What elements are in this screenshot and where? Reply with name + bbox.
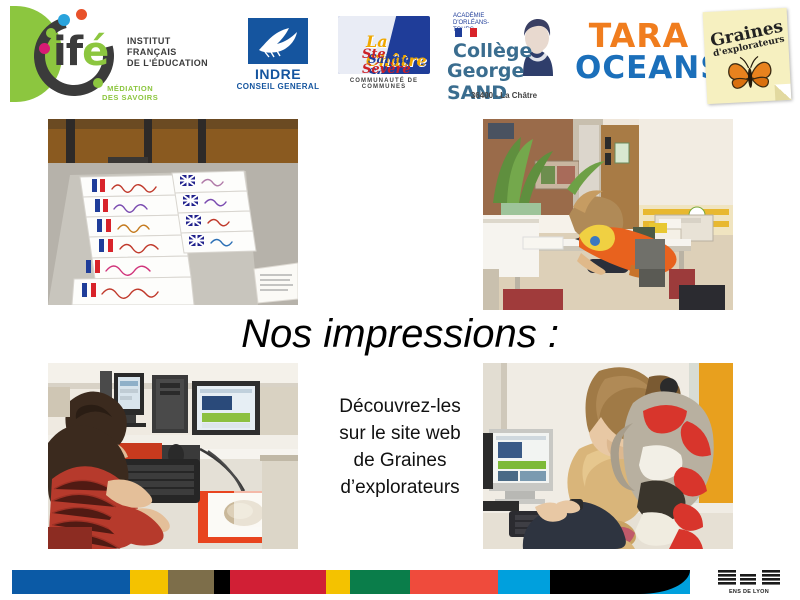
tara-line-1: TARA: [575, 20, 703, 52]
body-text-line-1: Découvrez-les: [305, 393, 495, 420]
footer-segment-3: [214, 570, 230, 594]
la-chatre-subtitle: COMMUNAUTÉ DE COMMUNES: [330, 78, 438, 90]
ife-wordmark-accent: é: [82, 29, 108, 75]
footer-segment-8: [498, 570, 550, 594]
ife-tagline-line-1: MÉDIATION: [102, 84, 158, 93]
photo-students-computers: [48, 363, 298, 549]
body-text-line-4: d’explorateurs: [305, 474, 495, 501]
french-flag-icon: [455, 28, 477, 37]
academie-crest: ACADÉMIE D'ORLÉANS-TOURS: [453, 13, 493, 27]
logo-ife: ifé INSTITUT FRANÇAIS DE L'ÉDUCATION MÉD…: [10, 6, 210, 110]
footer-tail-curve: [640, 570, 690, 594]
dove-icon: [255, 24, 301, 58]
ife-tagline-line-2: DES SAVOIRS: [102, 93, 158, 102]
ife-dot-blue-icon: [58, 14, 70, 26]
ife-subtitle-line-3: DE L'ÉDUCATION: [127, 58, 208, 69]
body-text-line-3: de Graines: [305, 447, 495, 474]
indre-subtitle: CONSEIL GENERAL: [232, 82, 324, 91]
ens-wordmark-icon: [718, 568, 780, 588]
indre-emblem: [248, 18, 308, 64]
logo-ens-de-lyon: ENS DE LYON: [718, 568, 788, 598]
ife-subtitle: INSTITUT FRANÇAIS DE L'ÉDUCATION: [127, 36, 208, 69]
footer-segment-2: [168, 570, 214, 594]
indre-name: INDRE: [232, 66, 324, 82]
photo-vocabulary-cards: [48, 119, 298, 305]
slide: ifé INSTITUT FRANÇAIS DE L'ÉDUCATION MÉD…: [0, 0, 800, 600]
logo-la-chatre: La Châtre Sainte Sévère Ste Sévère COMMU…: [330, 16, 438, 100]
page-title: Nos impressions :: [0, 312, 800, 357]
footer-segment-0: [12, 570, 130, 594]
butterfly-icon: [723, 55, 777, 98]
footer-segment-7: [410, 570, 498, 594]
logo-tara-oceans: TARA OCEANS: [575, 20, 703, 96]
ife-dot-orange-icon: [76, 9, 87, 20]
body-text: Découvrez-les sur le site web de Graines…: [305, 393, 495, 501]
tara-line-2: OCEANS: [575, 52, 703, 84]
footer-segment-1: [130, 570, 168, 594]
logo-graines-explorateurs: Graines d'explorateurs: [703, 8, 792, 104]
college-subtitle: 36400 - La Châtre: [443, 91, 565, 100]
footer-segment-5: [326, 570, 350, 594]
ife-tagline: MÉDIATION DES SAVOIRS: [102, 84, 158, 102]
photo-teacher-student-screen: [483, 363, 733, 549]
ife-subtitle-line-1: INSTITUT: [127, 36, 208, 47]
ife-subtitle-line-2: FRANÇAIS: [127, 47, 208, 58]
logo-college-george-sand: ACADÉMIE D'ORLÉANS-TOURS Collège George …: [443, 8, 565, 104]
la-chatre-line-2: Ste Sévère: [362, 47, 430, 74]
ife-dot-magenta-icon: [39, 43, 50, 54]
footer-segment-4: [230, 570, 326, 594]
postit-fold-icon: [775, 84, 792, 101]
ens-subtitle: ENS DE LYON: [718, 589, 780, 595]
footer-segment-6: [350, 570, 410, 594]
logo-indre-conseil-general: INDRE CONSEIL GENERAL: [232, 18, 324, 100]
footer-color-bar: [0, 570, 800, 594]
body-text-line-2: sur le site web: [305, 420, 495, 447]
photo-student-writing: [483, 119, 733, 310]
la-chatre-emblem: La Châtre Sainte Sévère Ste Sévère: [338, 16, 430, 74]
college-word-1: Collège: [453, 40, 532, 62]
partner-logos-strip: ifé INSTITUT FRANÇAIS DE L'ÉDUCATION MÉD…: [0, 0, 800, 112]
ife-wordmark-base: if: [53, 29, 82, 75]
ife-wordmark: ifé: [53, 32, 108, 72]
